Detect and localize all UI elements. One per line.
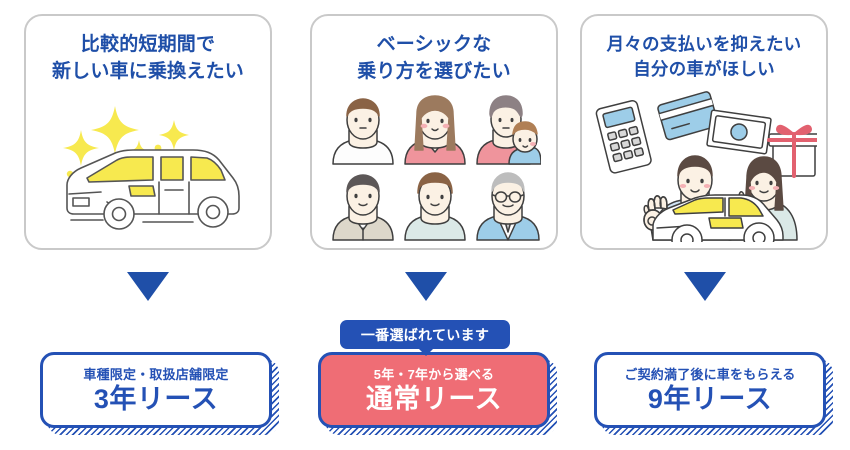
couple-with-car-and-money-illustration [582,90,826,240]
card-own-car: 月々の支払いを抑えたい 自分の車がほしい [580,14,828,250]
infographic-root: 比較的短期間で 新しい車に乗換えたい [0,0,850,450]
arrow-down-icon-2 [405,272,447,301]
most-chosen-badge-label: 一番選ばれています [361,325,489,345]
most-chosen-badge: 一番選ばれています [340,320,510,349]
plan-box-body[interactable]: 5年・7年から選べる 通常リース [318,352,550,428]
plan-title: 3年リース [94,386,218,413]
arrow-down-icon-1 [127,272,169,301]
plan-title: 9年リース [648,386,772,413]
plan-box-lease-normal[interactable]: 5年・7年から選べる 通常リース [318,352,550,428]
card-basic: ベーシックな 乗り方を選びたい [310,14,558,250]
plan-box-lease-3y[interactable]: 車種限定・取扱店舗限定 3年リース [40,352,272,428]
six-people-portraits-illustration [312,90,556,240]
card-title: 月々の支払いを抑えたい 自分の車がほしい [582,32,826,82]
card-short-term: 比較的短期間で 新しい車に乗換えたい [24,14,272,250]
badge-tail-icon [418,348,434,356]
plan-box-body[interactable]: ご契約満了後に車をもらえる 9年リース [594,352,826,428]
arrow-down-icon-3 [684,272,726,301]
plan-subtitle: 車種限定・取扱店舗限定 [83,368,228,381]
plan-box-body[interactable]: 車種限定・取扱店舗限定 3年リース [40,352,272,428]
plan-subtitle: ご契約満了後に車をもらえる [624,368,795,381]
plan-subtitle: 5年・7年から選べる [374,368,494,381]
card-title: 比較的短期間で 新しい車に乗換えたい [26,32,270,86]
sparkling-minivan-illustration [26,90,270,240]
card-title: ベーシックな 乗り方を選びたい [312,32,556,86]
plan-title: 通常リース [366,386,502,413]
plan-box-lease-9y[interactable]: ご契約満了後に車をもらえる 9年リース [594,352,826,428]
